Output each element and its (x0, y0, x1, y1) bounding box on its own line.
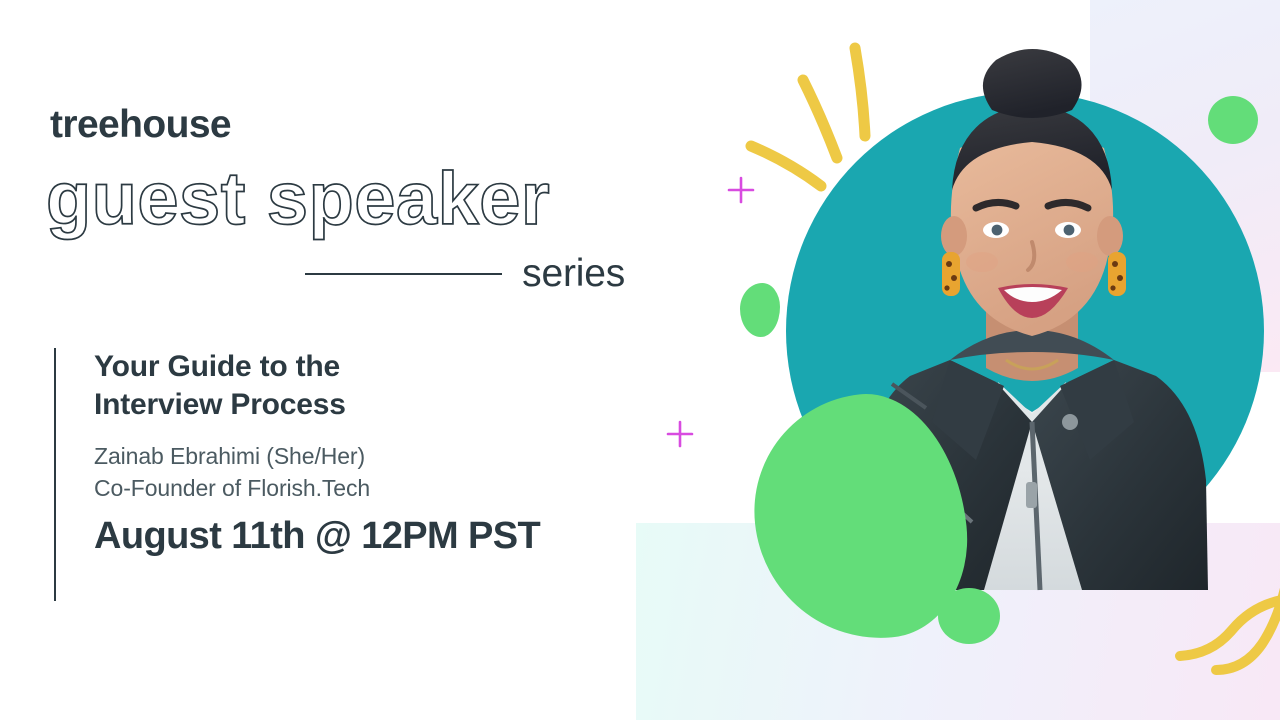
series-divider-rule (305, 273, 502, 275)
copy-column: treehouse guest speaker series Your Guid… (0, 0, 660, 720)
series-label: series (522, 254, 625, 293)
magenta-plus-icon-lower (666, 420, 694, 448)
green-organic-blob-small (740, 283, 780, 337)
session-title-line-2: Interview Process (94, 388, 346, 421)
speaker-name: Zainab Ebrahimi (She/Her) (94, 441, 540, 473)
series-row: series (305, 254, 625, 293)
speaker-role: Co-Founder of Florish.Tech (94, 473, 540, 505)
session-detail-block: Your Guide to the Interview Process Zain… (54, 348, 540, 601)
green-dot-bottom (938, 588, 1000, 644)
promo-graphic-stage: treehouse guest speaker series Your Guid… (0, 0, 1280, 720)
event-date-time: August 11th @ 12PM PST (94, 516, 540, 558)
guest-speaker-headline: guest speaker (46, 162, 550, 236)
session-title-line-1: Your Guide to the (94, 350, 340, 383)
magenta-plus-icon-upper (727, 176, 755, 204)
treehouse-wordmark: treehouse (50, 105, 231, 144)
session-title: Your Guide to the Interview Process (94, 348, 540, 425)
